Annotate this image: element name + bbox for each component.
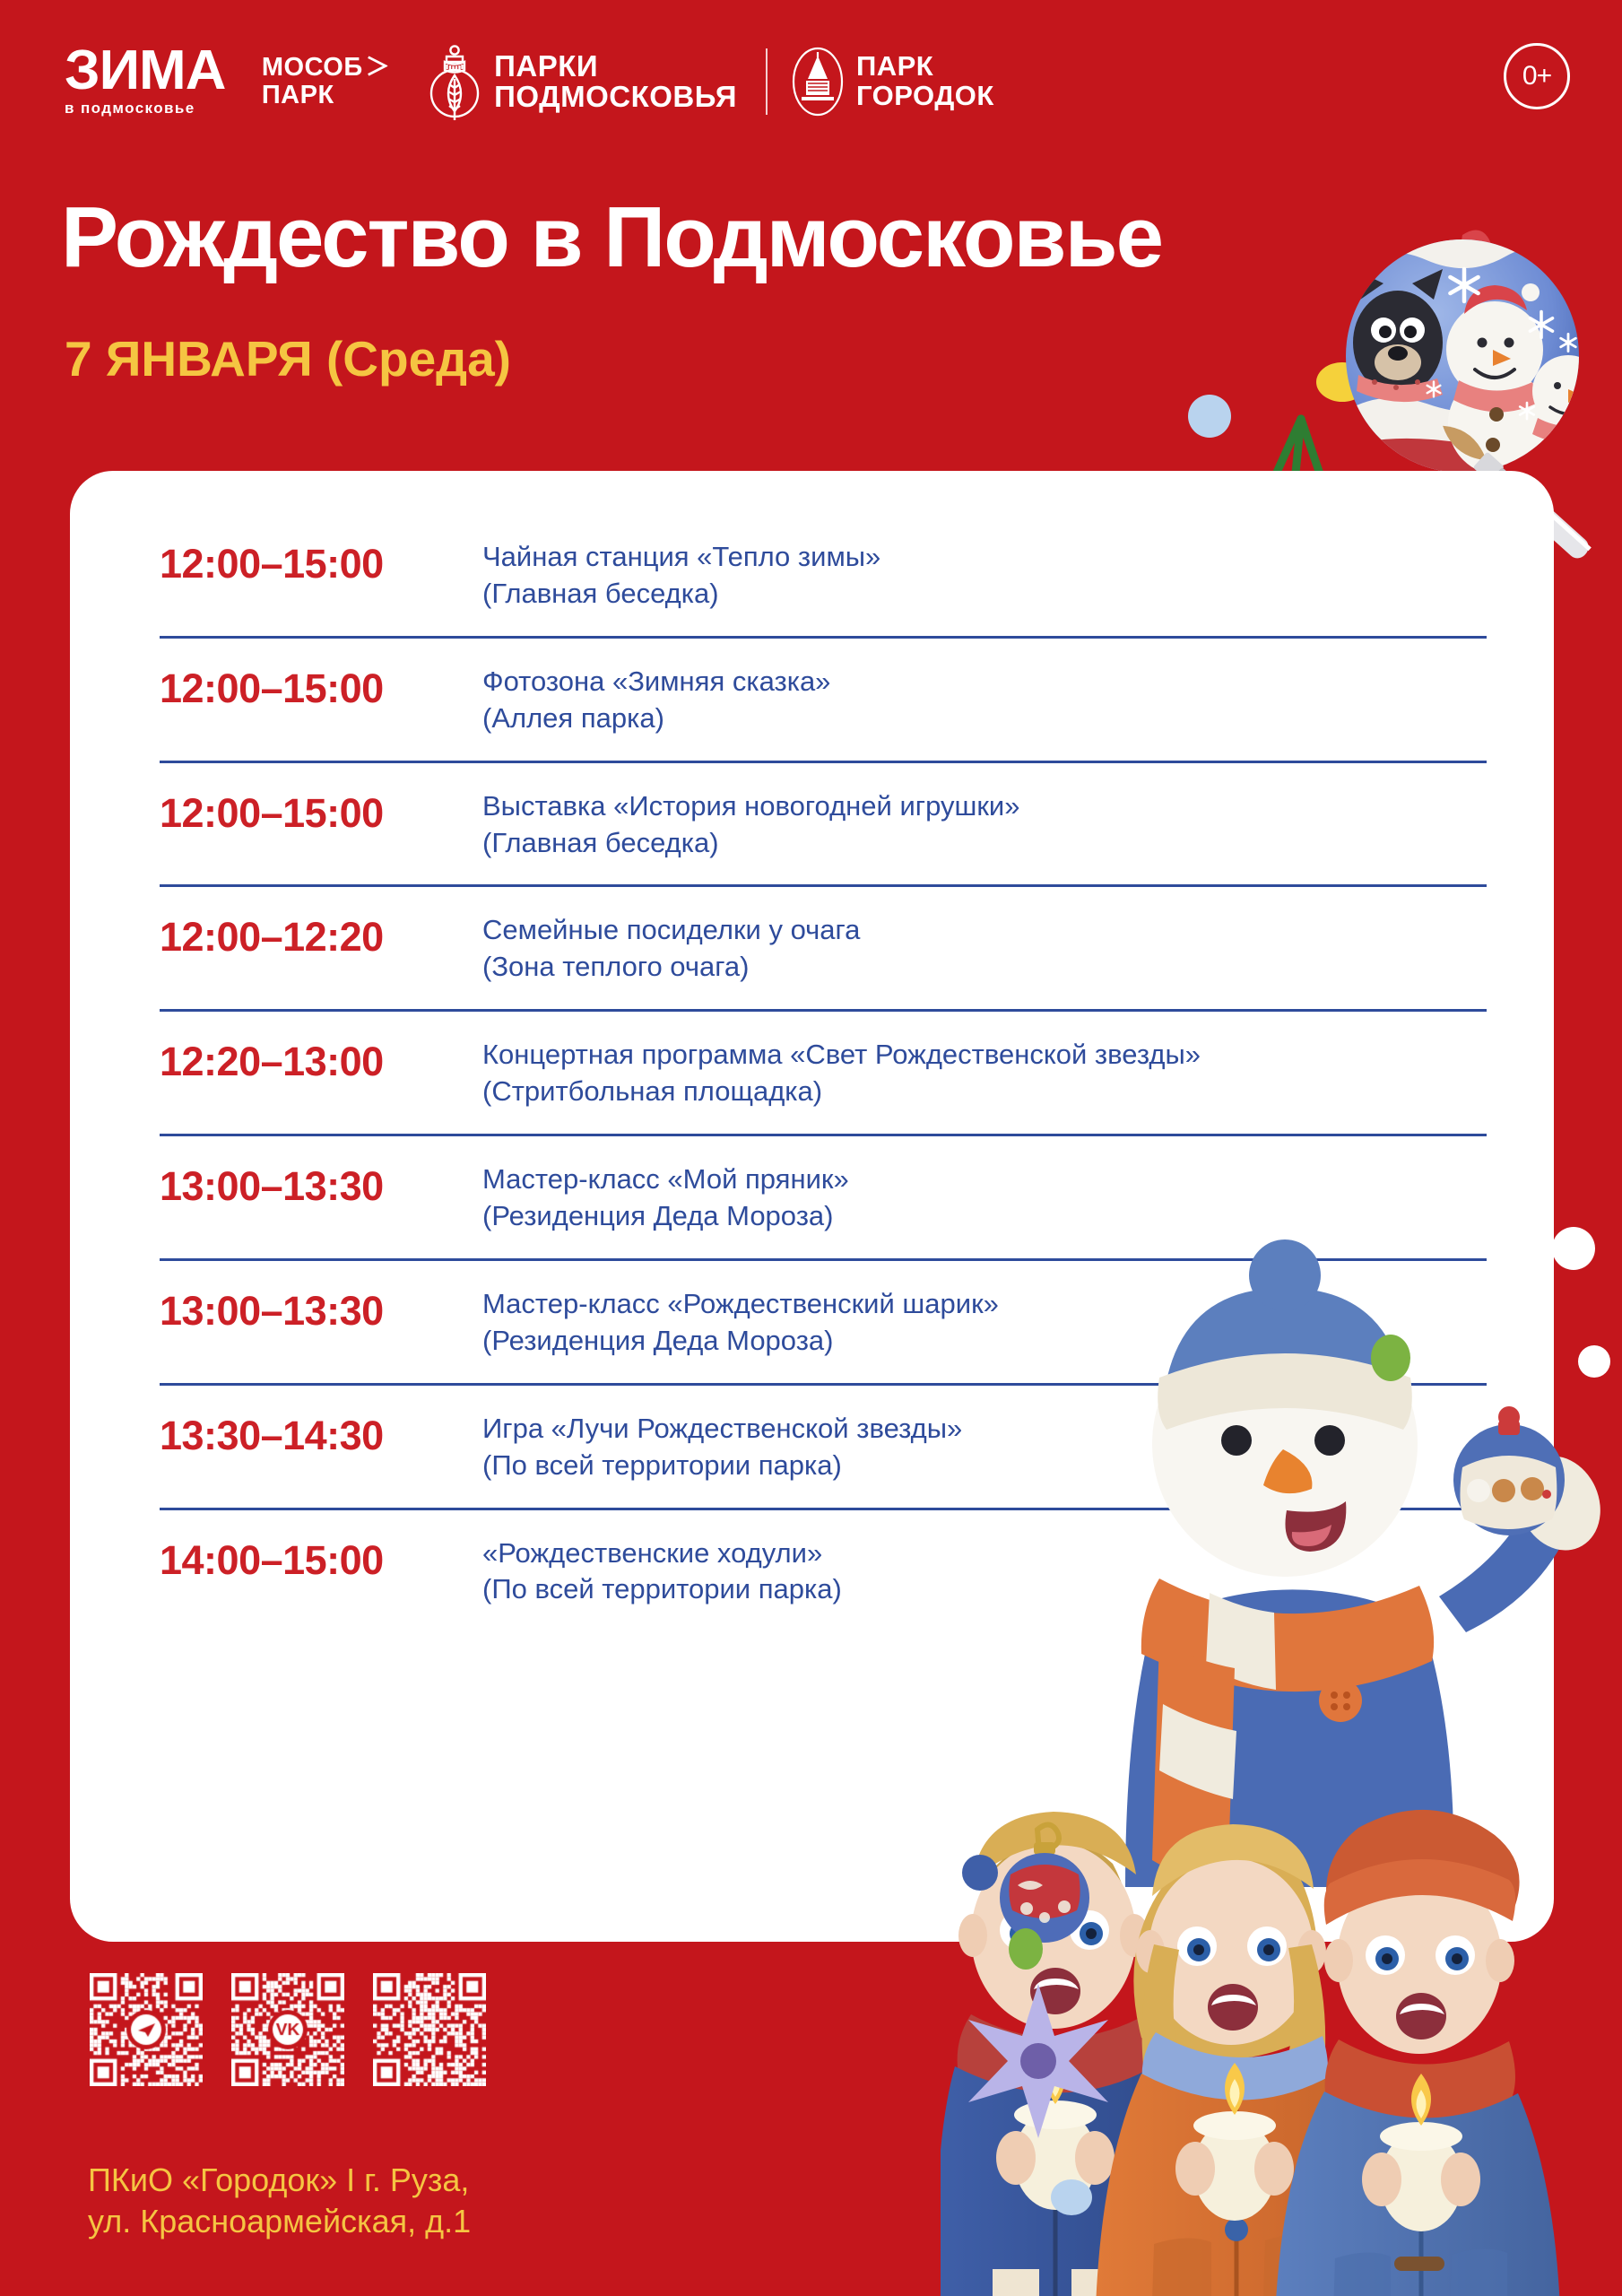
logo-gorodok-line2: ГОРОДОК xyxy=(856,82,994,111)
row-time: 13:00–13:30 xyxy=(160,1286,482,1332)
address-line-1: ПКиО «Городок» I г. Руза, xyxy=(88,2160,471,2201)
row-event-title: Концертная программа «Свет Рождественско… xyxy=(482,1037,1487,1074)
table-row: 12:00–12:20 Семейные посиделки у очага (… xyxy=(160,884,1487,1009)
bauble-leaf-icon xyxy=(426,43,483,120)
decor-dot-blue-top xyxy=(1188,395,1231,438)
decor-dot-white-right xyxy=(1578,1345,1610,1378)
row-time: 13:30–14:30 xyxy=(160,1411,482,1457)
table-row: 12:00–15:00 Чайная станция «Тепло зимы» … xyxy=(160,514,1487,636)
logo-parki-line1: ПАРКИ xyxy=(494,51,737,82)
logo-gorodok-line1: ПАРК xyxy=(856,52,994,82)
christmas-ornament-illustration xyxy=(1328,199,1606,504)
row-time: 12:00–15:00 xyxy=(160,664,482,709)
row-event-title: Мастер-класс «Рождественский шарик» xyxy=(482,1286,1487,1323)
schedule-card: 12:00–15:00 Чайная станция «Тепло зимы» … xyxy=(70,471,1554,1942)
row-event-title: Игра «Лучи Рождественской звезды» xyxy=(482,1411,1487,1448)
row-event-title: Чайная станция «Тепло зимы» xyxy=(482,539,1487,576)
table-row: 12:20–13:00 Концертная программа «Свет Р… xyxy=(160,1009,1487,1134)
row-event-place: (По всей территории парка) xyxy=(482,1571,1487,1608)
site-qr-code[interactable] xyxy=(373,1973,486,2086)
chevron-right-icon: ＞ xyxy=(366,55,391,81)
logo-mosoblpark: МОСОБ ＞ ПАРК xyxy=(262,54,390,110)
decor-dot-lightblue-bottom xyxy=(1051,2179,1092,2215)
logo-mosob-line2: ПАРК xyxy=(262,82,390,109)
venue-address: ПКиО «Городок» I г. Руза, ул. Красноарме… xyxy=(88,2160,471,2242)
row-event-title: Мастер-класс «Мой пряник» xyxy=(482,1161,1487,1198)
row-time: 14:00–15:00 xyxy=(160,1535,482,1581)
age-rating-badge: 0+ xyxy=(1504,43,1570,109)
decor-dot-yellow-top xyxy=(1316,362,1368,402)
table-row: 13:30–14:30 Игра «Лучи Рождественской зв… xyxy=(160,1383,1487,1508)
telegram-qr-code[interactable] xyxy=(90,1973,203,2086)
logo-zima-tagline: в подмосковье xyxy=(65,100,195,117)
row-event-title: Фотозона «Зимняя сказка» xyxy=(482,664,1487,700)
table-row: 13:00–13:30 Мастер-класс «Рождественский… xyxy=(160,1258,1487,1383)
decor-dot-green-bottom xyxy=(1009,1928,1043,1970)
logo-zima-wordmark: ЗИМА xyxy=(65,46,225,96)
logo-parki-podmoskovya: ПАРКИ ПОДМОСКОВЬЯ xyxy=(426,43,737,120)
page-title: Рождество в Подмосковье xyxy=(61,188,1162,287)
row-event-place: (Главная беседка) xyxy=(482,825,1487,862)
row-event-place: (Резиденция Деда Мороза) xyxy=(482,1198,1487,1235)
row-event-place: (Стритбольная площадка) xyxy=(482,1074,1487,1110)
row-event-title: Семейные посиделки у очага xyxy=(482,912,1487,949)
logo-mosob-line1: МОСОБ xyxy=(262,54,363,82)
logo-parki-line2: ПОДМОСКОВЬЯ xyxy=(494,82,737,112)
page-subtitle-date: 7 ЯНВАРЯ (Среда) xyxy=(65,330,511,387)
schedule-list: 12:00–15:00 Чайная станция «Тепло зимы» … xyxy=(160,514,1487,1631)
logo-park-gorodok: ПАРК ГОРОДОК xyxy=(791,47,994,117)
table-row: 12:00–15:00 Выставка «История новогодней… xyxy=(160,761,1487,885)
logo-divider xyxy=(766,48,768,115)
decor-dot-blue-bottom xyxy=(962,1855,998,1891)
table-row: 12:00–15:00 Фотозона «Зимняя сказка» (Ал… xyxy=(160,636,1487,761)
row-event-title: Выставка «История новогодней игрушки» xyxy=(482,788,1487,825)
poster-root: ЗИМА в подмосковье МОСОБ ＞ ПАРК xyxy=(0,0,1622,2296)
row-event-place: (Главная беседка) xyxy=(482,576,1487,613)
qr-code-group xyxy=(90,1973,486,2086)
row-event-title: «Рождественские ходули» xyxy=(482,1535,1487,1572)
logo-zima: ЗИМА в подмосковье xyxy=(65,46,222,117)
row-time: 12:00–12:20 xyxy=(160,912,482,958)
row-time: 13:00–13:30 xyxy=(160,1161,482,1207)
tower-icon xyxy=(791,47,845,117)
table-row: 13:00–13:30 Мастер-класс «Мой пряник» (Р… xyxy=(160,1134,1487,1258)
table-row: 14:00–15:00 «Рождественские ходули» (По … xyxy=(160,1508,1487,1632)
header-logos: ЗИМА в подмосковье МОСОБ ＞ ПАРК xyxy=(65,32,1568,131)
decor-dot-white xyxy=(1552,1227,1595,1270)
row-event-place: (Зона теплого очага) xyxy=(482,949,1487,986)
row-time: 12:20–13:00 xyxy=(160,1037,482,1083)
row-event-place: (Резиденция Деда Мороза) xyxy=(482,1323,1487,1360)
purple-star-icon xyxy=(958,1980,1119,2142)
row-time: 12:00–15:00 xyxy=(160,539,482,585)
row-time: 12:00–15:00 xyxy=(160,788,482,834)
vk-qr-code[interactable] xyxy=(231,1973,344,2086)
row-event-place: (По всей территории парка) xyxy=(482,1448,1487,1484)
row-event-place: (Аллея парка) xyxy=(482,700,1487,737)
address-line-2: ул. Красноармейская, д.1 xyxy=(88,2201,471,2242)
